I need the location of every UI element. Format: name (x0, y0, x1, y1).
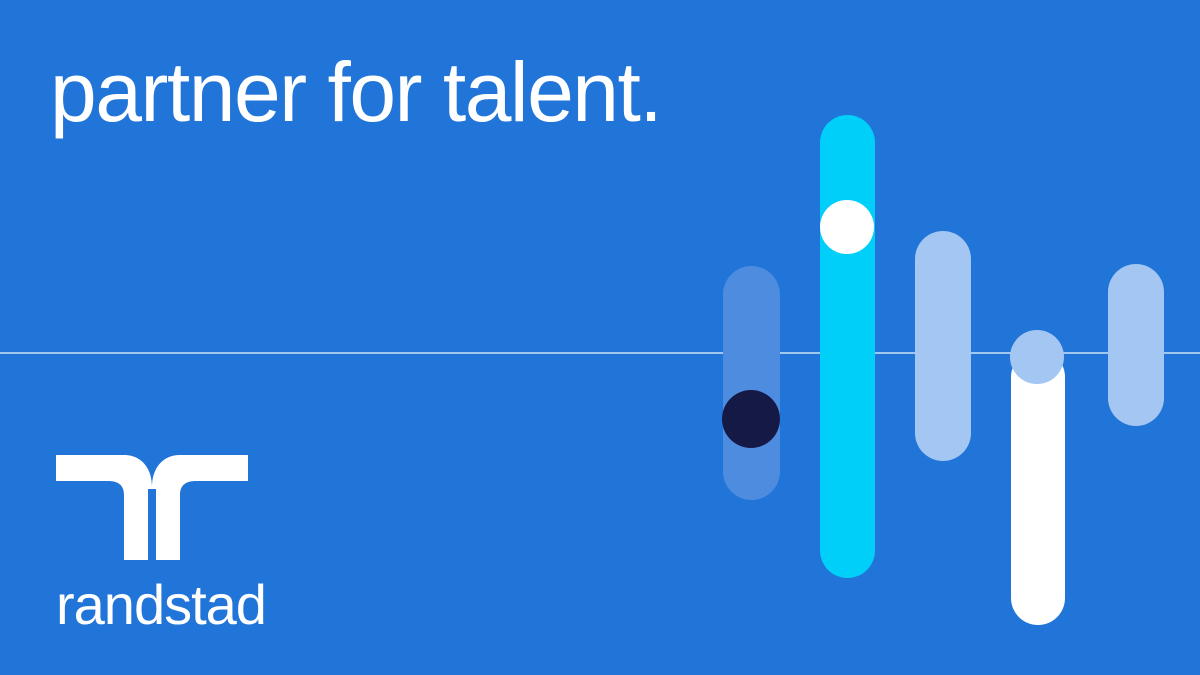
bar-3-periwinkle (915, 231, 971, 461)
bar-5-periwinkle (1108, 264, 1164, 426)
page-title: partner for talent. (50, 44, 661, 140)
bar-2-cyan (820, 115, 875, 578)
bar-4-white (1011, 350, 1065, 625)
randstad-wordmark: randstad (56, 576, 266, 634)
randstad-logo: randstad (56, 455, 266, 634)
dot-white (820, 200, 874, 254)
dot-navy (722, 390, 780, 448)
randstad-y-mark-icon (56, 455, 248, 560)
bar-1-mid-blue (723, 266, 780, 500)
randstad-banner: partner for talent. randstad (0, 0, 1200, 675)
dot-periwinkle (1010, 330, 1064, 384)
horizon-rule (0, 352, 1200, 354)
